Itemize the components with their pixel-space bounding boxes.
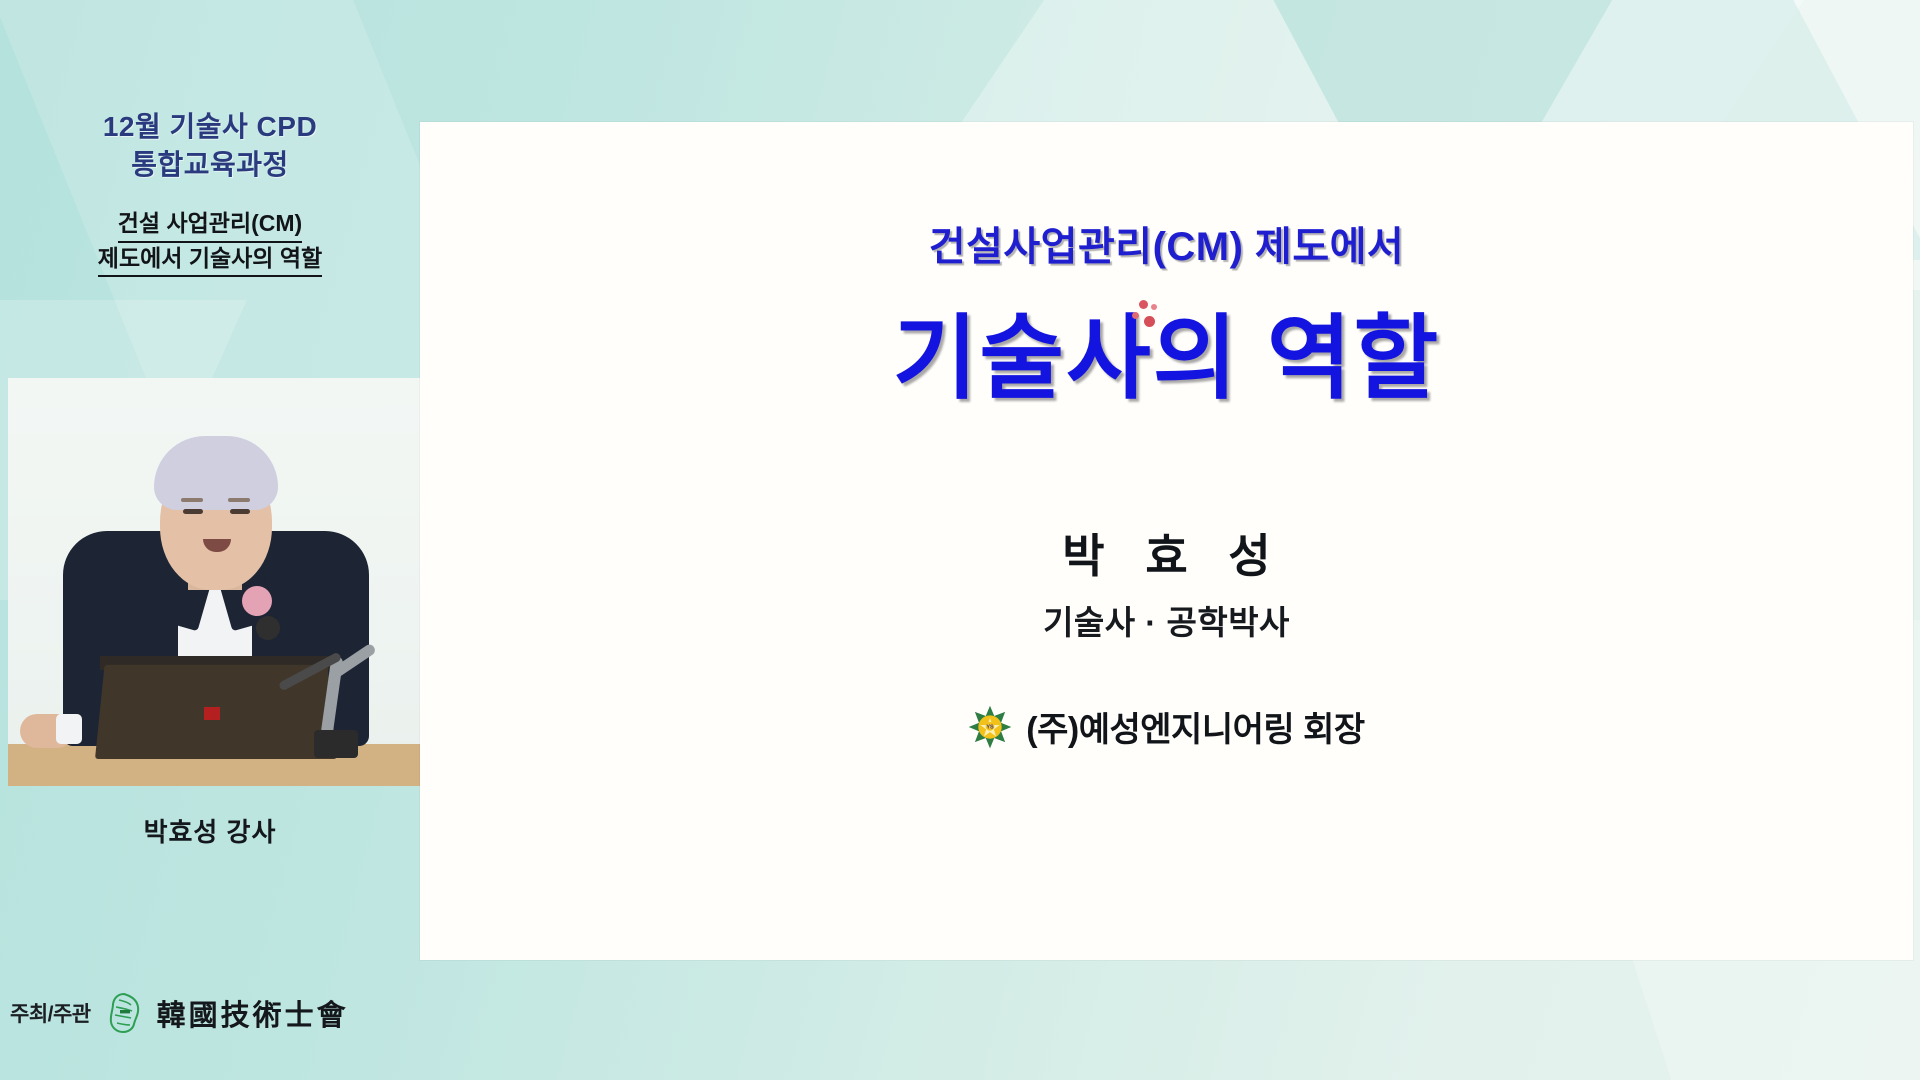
speaker-hair-icon — [154, 436, 278, 510]
organizer-name: 韓國技術士會 — [157, 992, 349, 1034]
eye-right-icon — [230, 509, 250, 514]
affiliation-text: (주)예성엔지니어링 회장 — [1026, 702, 1364, 751]
program-title-line-1: 12월 기술사 CPD — [0, 108, 420, 146]
course-title-line-1: 건설 사업관리(CM) — [118, 208, 302, 243]
program-title: 12월 기술사 CPD 통합교육과정 — [0, 108, 420, 184]
organizer-credit: 주최/주관 韓國技術士會 — [10, 990, 349, 1036]
eye-left-icon — [183, 509, 203, 514]
organizer-label: 주최/주관 — [10, 998, 91, 1028]
program-title-line-2: 통합교육과정 — [0, 146, 420, 184]
speaker-name: 박 효 성 — [420, 520, 1913, 586]
gold-green-star-emblem-icon: YS — [968, 705, 1012, 749]
affiliation-row: YS (주)예성엔지니어링 회장 — [420, 702, 1913, 751]
corsage-flower-icon — [242, 586, 272, 616]
presentation-screen: 12월 기술사 CPD 통합교육과정 건설 사업관리(CM) 제도에서 기술사의… — [0, 0, 1920, 1080]
shirt-cuff-icon — [56, 714, 82, 744]
course-title: 건설 사업관리(CM) 제도에서 기술사의 역할 — [0, 208, 420, 277]
slide-eyebrow: 건설사업관리(CM) 제도에서 — [420, 214, 1913, 272]
microphone-head-icon — [256, 616, 280, 640]
svg-text:YS: YS — [987, 724, 995, 730]
sidebar: 12월 기술사 CPD 통합교육과정 건설 사업관리(CM) 제도에서 기술사의… — [0, 0, 420, 1080]
korea-map-seal-icon — [101, 990, 147, 1036]
speaker-video-thumbnail[interactable] — [8, 378, 424, 786]
eyebrow-right-icon — [228, 498, 250, 502]
mic-base-icon — [314, 730, 358, 758]
speaker-credentials: 기술사 · 공학박사 — [420, 596, 1913, 644]
course-title-line-2: 제도에서 기술사의 역할 — [98, 243, 322, 278]
speaker-caption: 박효성 강사 — [0, 812, 420, 849]
lectern-indicator-light-icon — [204, 707, 220, 720]
page-title: 기술사의 역할 — [420, 284, 1913, 417]
eyebrow-left-icon — [181, 498, 203, 502]
slide-panel: 건설사업관리(CM) 제도에서 기술사의 역할 박 효 성 기술사 · 공학박사 — [420, 122, 1913, 960]
